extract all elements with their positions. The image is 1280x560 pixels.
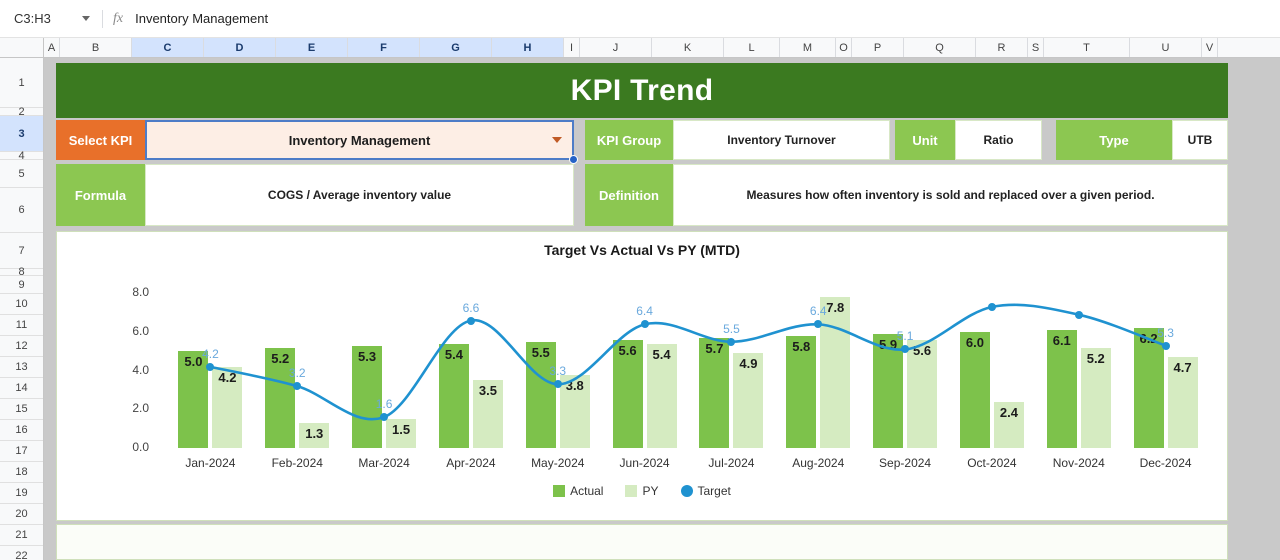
formula-value: COGS / Average inventory value	[268, 188, 451, 202]
target-point[interactable]	[554, 380, 562, 388]
divider	[102, 10, 103, 28]
row-header-3[interactable]: 3	[0, 116, 43, 152]
target-label: 5.1	[897, 329, 914, 343]
column-header-p[interactable]: P	[852, 38, 904, 57]
legend-label: PY	[642, 484, 658, 498]
target-point[interactable]	[380, 413, 388, 421]
target-point[interactable]	[1075, 311, 1083, 319]
fx-icon[interactable]: fx	[113, 11, 135, 27]
kpi-group-value: Inventory Turnover	[727, 133, 835, 147]
row-header-15[interactable]: 15	[0, 399, 43, 420]
target-label: 6.4	[636, 304, 653, 318]
row-header-10[interactable]: 10	[0, 294, 43, 315]
column-header-l[interactable]: L	[724, 38, 780, 57]
kpi-group-value-cell[interactable]: Inventory Turnover	[673, 120, 890, 160]
row-header-21[interactable]: 21	[0, 525, 43, 546]
target-label: 1.6	[376, 397, 393, 411]
definition-label: Definition	[585, 164, 673, 226]
select-kpi-value: Inventory Management	[289, 133, 431, 148]
target-line-series	[57, 262, 1229, 480]
lower-panel	[56, 524, 1228, 560]
column-header-h[interactable]: H	[492, 38, 564, 57]
type-value: UTB	[1188, 133, 1213, 147]
unit-label: Unit	[895, 120, 955, 160]
definition-value-cell[interactable]: Measures how often inventory is sold and…	[673, 164, 1228, 226]
legend-item-actual[interactable]: Actual	[553, 484, 603, 498]
column-header-a[interactable]: A	[44, 38, 60, 57]
row-headers: 1234567891011121314151617181920212223	[0, 58, 44, 560]
unit-value-cell[interactable]: Ratio	[955, 120, 1042, 160]
legend-label: Actual	[570, 484, 603, 498]
target-label: 6.6	[463, 301, 480, 315]
column-header-v[interactable]: V	[1202, 38, 1218, 57]
name-box-value: C3:H3	[14, 11, 82, 26]
chart-card[interactable]: Target Vs Actual Vs PY (MTD) 0.02.04.06.…	[56, 231, 1228, 521]
select-kpi-dropdown[interactable]: Inventory Management	[145, 120, 574, 160]
row-header-4[interactable]: 4	[0, 152, 43, 160]
select-kpi-label: Select KPI	[56, 120, 145, 160]
column-header-r[interactable]: R	[976, 38, 1028, 57]
sheet-canvas[interactable]: KPI Trend Select KPI Inventory Managemen…	[44, 58, 1280, 560]
column-header-g[interactable]: G	[420, 38, 492, 57]
column-header-b[interactable]: B	[60, 38, 132, 57]
row-header-13[interactable]: 13	[0, 357, 43, 378]
column-header-q[interactable]: Q	[904, 38, 976, 57]
chart-legend: ActualPYTarget	[57, 484, 1227, 498]
row-header-22[interactable]: 22	[0, 546, 43, 560]
target-label: 3.3	[549, 364, 566, 378]
row-header-9[interactable]: 9	[0, 276, 43, 294]
row-header-8[interactable]: 8	[0, 269, 43, 276]
column-header-k[interactable]: K	[652, 38, 724, 57]
legend-swatch-icon	[681, 485, 693, 497]
chart-title: Target Vs Actual Vs PY (MTD)	[57, 242, 1227, 258]
target-point[interactable]	[727, 338, 735, 346]
column-header-j[interactable]: J	[580, 38, 652, 57]
target-point[interactable]	[641, 320, 649, 328]
row-header-14[interactable]: 14	[0, 378, 43, 399]
row-header-20[interactable]: 20	[0, 504, 43, 525]
row-header-19[interactable]: 19	[0, 483, 43, 504]
name-box[interactable]: C3:H3	[0, 11, 100, 26]
row-header-7[interactable]: 7	[0, 233, 43, 269]
formula-label: Formula	[56, 164, 145, 226]
target-label: 4.2	[202, 347, 219, 361]
select-all-corner[interactable]	[0, 38, 44, 57]
target-point[interactable]	[467, 317, 475, 325]
legend-swatch-icon	[625, 485, 637, 497]
column-header-u[interactable]: U	[1130, 38, 1202, 57]
target-point[interactable]	[206, 363, 214, 371]
formula-input[interactable]: Inventory Management	[135, 11, 268, 26]
legend-item-py[interactable]: PY	[625, 484, 658, 498]
legend-label: Target	[698, 484, 731, 498]
column-header-t[interactable]: T	[1044, 38, 1130, 57]
column-header-m[interactable]: M	[780, 38, 836, 57]
column-header-c[interactable]: C	[132, 38, 204, 57]
target-label: 6.4	[810, 304, 827, 318]
page-title: KPI Trend	[56, 63, 1228, 118]
unit-value: Ratio	[984, 133, 1014, 147]
target-point[interactable]	[814, 320, 822, 328]
legend-item-target[interactable]: Target	[681, 484, 731, 498]
chevron-down-icon[interactable]	[552, 137, 562, 143]
formula-bar: C3:H3 fx Inventory Management	[0, 0, 1280, 38]
target-label: 5.5	[723, 322, 740, 336]
kpi-group-label: KPI Group	[585, 120, 673, 160]
row-header-2[interactable]: 2	[0, 108, 43, 116]
row-header-5[interactable]: 5	[0, 160, 43, 188]
column-header-i[interactable]: I	[564, 38, 580, 57]
column-header-d[interactable]: D	[204, 38, 276, 57]
row-header-16[interactable]: 16	[0, 420, 43, 441]
selection-fill-handle[interactable]	[569, 155, 578, 164]
row-header-11[interactable]: 11	[0, 315, 43, 336]
row-header-1[interactable]: 1	[0, 58, 43, 108]
definition-value: Measures how often inventory is sold and…	[746, 188, 1154, 202]
type-label: Type	[1056, 120, 1172, 160]
target-label: 3.2	[289, 366, 306, 380]
column-headers: ABCDEFGHIJKLMOPQRSTUV	[0, 38, 1280, 58]
target-point[interactable]	[901, 345, 909, 353]
row-header-6[interactable]: 6	[0, 188, 43, 233]
target-point[interactable]	[988, 303, 996, 311]
target-point[interactable]	[1162, 342, 1170, 350]
row-header-17[interactable]: 17	[0, 441, 43, 462]
column-header-o[interactable]: O	[836, 38, 852, 57]
legend-swatch-icon	[553, 485, 565, 497]
kpi-dashboard: KPI Trend Select KPI Inventory Managemen…	[56, 58, 1228, 560]
target-point[interactable]	[293, 382, 301, 390]
spreadsheet-grid: 1234567891011121314151617181920212223 KP…	[0, 58, 1280, 560]
target-label: 5.3	[1157, 326, 1174, 340]
type-value-cell[interactable]: UTB	[1172, 120, 1228, 160]
column-header-f[interactable]: F	[348, 38, 420, 57]
formula-value-cell[interactable]: COGS / Average inventory value	[145, 164, 574, 226]
chevron-down-icon[interactable]	[82, 16, 90, 21]
column-header-e[interactable]: E	[276, 38, 348, 57]
row-header-12[interactable]: 12	[0, 336, 43, 357]
chart-plot-area: 0.02.04.06.08.05.04.2Jan-20245.21.3Feb-2…	[57, 262, 1229, 480]
row-header-18[interactable]: 18	[0, 462, 43, 483]
column-header-s[interactable]: S	[1028, 38, 1044, 57]
